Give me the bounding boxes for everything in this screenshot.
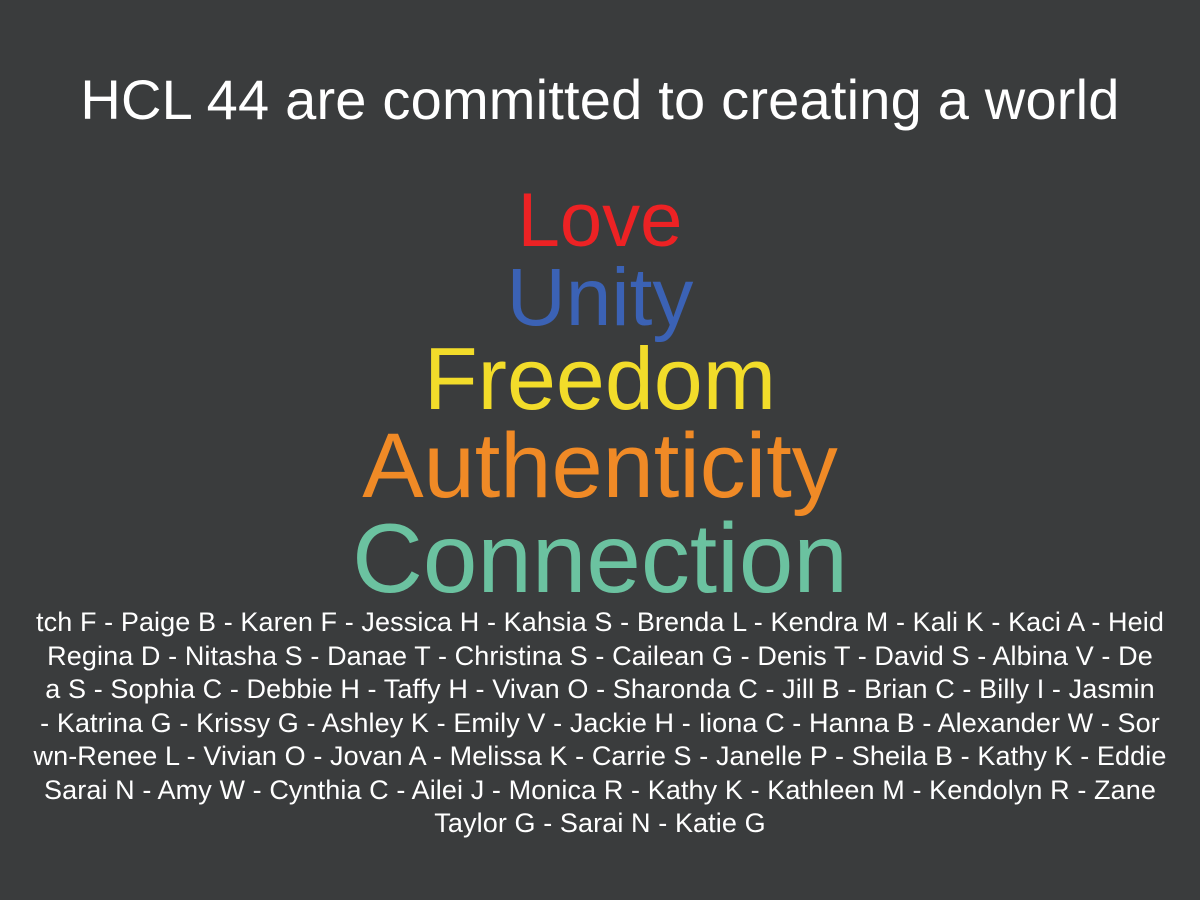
core-value-love: Love xyxy=(0,186,1200,256)
presentation-slide: HCL 44 are committed to creating a world… xyxy=(0,0,1200,900)
core-values-list: Love Unity Freedom Authenticity Connecti… xyxy=(0,186,1200,603)
roster-line: Sarai N - Amy W - Cynthia C - Ailei J - … xyxy=(0,774,1200,808)
roster-line: wn-Renee L - Vivian O - Jovan A - Meliss… xyxy=(0,740,1200,774)
roster-line: Taylor G - Sarai N - Katie G xyxy=(0,807,1200,841)
core-value-connection: Connection xyxy=(0,513,1200,603)
roster-line: Regina D - Nitasha S - Danae T - Christi… xyxy=(0,640,1200,674)
roster-line: - Katrina G - Krissy G - Ashley K - Emil… xyxy=(0,707,1200,741)
core-value-authenticity: Authenticity xyxy=(0,424,1200,509)
slide-headline: HCL 44 are committed to creating a world xyxy=(80,64,1119,136)
core-value-freedom: Freedom xyxy=(0,339,1200,420)
roster-line: a S - Sophia C - Debbie H - Taffy H - Vi… xyxy=(0,673,1200,707)
core-value-unity: Unity xyxy=(0,260,1200,335)
headline-container: HCL 44 are committed to creating a world xyxy=(80,64,1119,136)
roster-line: tch F - Paige B - Karen F - Jessica H - … xyxy=(0,606,1200,640)
participant-roster: tch F - Paige B - Karen F - Jessica H - … xyxy=(0,606,1200,841)
